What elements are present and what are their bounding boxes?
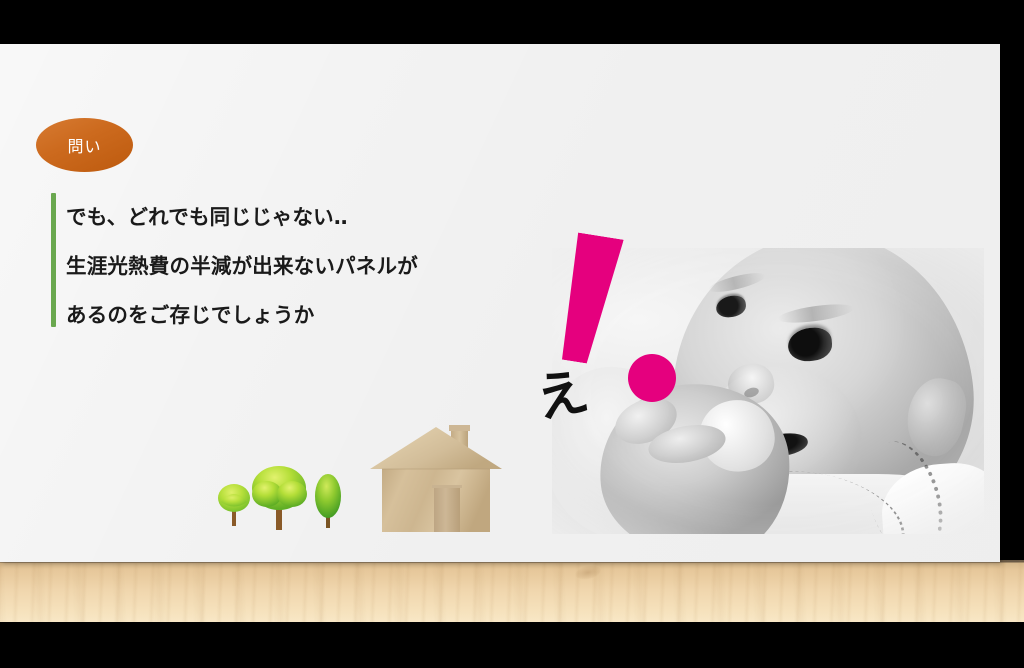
body-line-2: 生涯光熱費の半減が出来ないパネルが [66, 242, 418, 291]
green-accent-bar [51, 193, 56, 327]
baby-photo [552, 248, 984, 534]
kana-e-mark: え [526, 361, 599, 431]
body-line-1: でも、どれでも同じじゃない‥ [66, 193, 418, 242]
trees-illustration [212, 462, 352, 534]
baby-photo-image [552, 248, 984, 534]
body-line-3: あるのをご存じでしょうか [66, 291, 418, 340]
slide-stage: 問い でも、どれでも同じじゃない‥ 生涯光熱費の半減が出来ないパネルが あるのを… [0, 0, 1024, 668]
wooden-floor [0, 560, 1024, 622]
body-text-lines: でも、どれでも同じじゃない‥ 生涯光熱費の半減が出来ないパネルが あるのをご存じ… [66, 193, 418, 340]
letterbox-bar-bottom [0, 622, 1024, 668]
house-icon [366, 417, 506, 535]
slide-board: 問い でも、どれでも同じじゃない‥ 生涯光熱費の半減が出来ないパネルが あるのを… [0, 44, 1000, 562]
exclamation-dot-icon [628, 354, 676, 402]
house-illustration [366, 417, 506, 535]
question-badge-label: 問い [67, 133, 101, 157]
body-text-block: でも、どれでも同じじゃない‥ 生涯光熱費の半減が出来ないパネルが あるのをご存じ… [51, 193, 418, 340]
question-badge: 問い [36, 118, 133, 172]
letterbox-bar-top [0, 0, 1024, 44]
trees-icon [212, 462, 352, 534]
floor-grain-texture [0, 560, 1024, 622]
